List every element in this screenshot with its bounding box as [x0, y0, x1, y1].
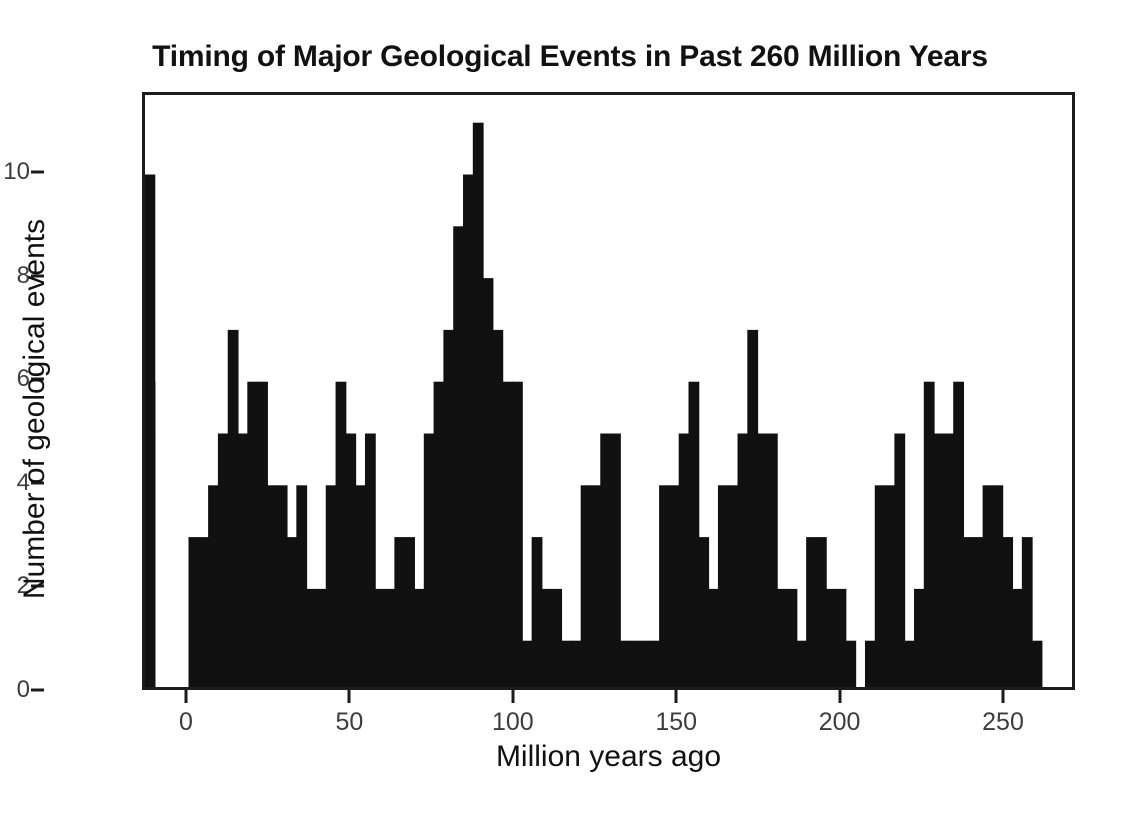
- histogram-bar: [630, 641, 640, 687]
- histogram-bar: [1003, 538, 1013, 687]
- histogram-bar: [258, 382, 268, 687]
- x-tick-mark: [1002, 690, 1005, 703]
- histogram-bar: [620, 641, 630, 687]
- histogram-bar: [277, 486, 287, 687]
- histogram-bar: [611, 434, 621, 687]
- histogram-bar: [365, 434, 375, 687]
- histogram-bar: [385, 589, 395, 687]
- histogram-bar: [748, 330, 758, 687]
- histogram-bar: [767, 434, 777, 687]
- histogram-bar: [395, 538, 405, 687]
- histogram-bar: [709, 589, 719, 687]
- y-axis-title: Number of geological events: [18, 159, 52, 659]
- histogram-bar: [954, 382, 964, 687]
- histogram-bar: [836, 589, 846, 687]
- histogram-bar: [145, 434, 155, 687]
- histogram-bar: [375, 589, 385, 687]
- histogram-bar: [738, 434, 748, 687]
- histogram-bar: [826, 589, 836, 687]
- histogram-bar: [1013, 589, 1023, 687]
- histogram-bar: [964, 538, 974, 687]
- y-tick-mark: [31, 689, 44, 692]
- histogram-bars: [145, 95, 1072, 687]
- plot-inner: [145, 95, 1072, 687]
- histogram-bar: [934, 434, 944, 687]
- chart-figure: Timing of Major Geological Events in Pas…: [0, 0, 1140, 818]
- histogram-bar: [679, 434, 689, 687]
- histogram-bar: [346, 434, 356, 687]
- histogram-bar: [993, 486, 1003, 687]
- x-axis-title: Million years ago: [142, 740, 1075, 774]
- chart-title: Timing of Major Geological Events in Pas…: [0, 40, 1140, 74]
- histogram-bar: [581, 486, 591, 687]
- histogram-bar: [1032, 641, 1042, 687]
- histogram-bar: [248, 382, 258, 687]
- histogram-bar: [797, 641, 807, 687]
- x-tick-label: 150: [655, 708, 697, 737]
- histogram-bar: [944, 434, 954, 687]
- histogram-bar: [895, 434, 905, 687]
- histogram-bar: [571, 641, 581, 687]
- histogram-bar: [326, 486, 336, 687]
- histogram-bar: [728, 486, 738, 687]
- histogram-bar: [758, 434, 768, 687]
- histogram-bar: [777, 589, 787, 687]
- histogram-bar: [307, 589, 317, 687]
- histogram-bar: [503, 382, 513, 687]
- histogram-bar: [336, 382, 346, 687]
- histogram-bar: [905, 641, 915, 687]
- histogram-bar: [522, 641, 532, 687]
- histogram-bar: [640, 641, 650, 687]
- histogram-bar: [807, 538, 817, 687]
- x-tick-label: 250: [982, 708, 1024, 737]
- x-tick-mark: [511, 690, 514, 703]
- histogram-bar: [199, 538, 209, 687]
- histogram-bar: [267, 486, 277, 687]
- histogram-bar: [1022, 538, 1032, 687]
- histogram-bar: [973, 538, 983, 687]
- histogram-bar: [699, 538, 709, 687]
- x-tick-label: 100: [492, 708, 534, 737]
- histogram-bar: [356, 486, 366, 687]
- histogram-bar: [483, 279, 493, 687]
- x-tick-label: 200: [819, 708, 861, 737]
- histogram-bar: [473, 123, 483, 687]
- histogram-bar: [228, 330, 238, 687]
- histogram-bar: [454, 227, 464, 687]
- histogram-bar: [493, 330, 503, 687]
- histogram-bar: [846, 641, 856, 687]
- histogram-bar: [885, 486, 895, 687]
- histogram-bar: [209, 486, 219, 687]
- x-tick-mark: [675, 690, 678, 703]
- histogram-bar: [405, 538, 415, 687]
- histogram-bar: [189, 538, 199, 687]
- histogram-bar: [444, 330, 454, 687]
- histogram-bar: [542, 589, 552, 687]
- histogram-bar: [434, 382, 444, 687]
- histogram-bar: [414, 589, 424, 687]
- x-tick-mark: [838, 690, 841, 703]
- histogram-bar: [532, 538, 542, 687]
- histogram-bar: [513, 382, 523, 687]
- histogram-bar: [591, 486, 601, 687]
- histogram-bar: [316, 589, 326, 687]
- histogram-bar: [983, 486, 993, 687]
- histogram-bar: [552, 589, 562, 687]
- histogram-bar: [718, 486, 728, 687]
- y-tick-label: 0: [17, 676, 30, 704]
- histogram-bar: [816, 538, 826, 687]
- histogram-bar: [238, 434, 248, 687]
- histogram-bar: [601, 434, 611, 687]
- plot-area: [142, 92, 1075, 690]
- histogram-bar: [915, 589, 925, 687]
- histogram-bar: [689, 382, 699, 687]
- x-tick-mark: [185, 690, 188, 703]
- histogram-bar: [865, 641, 875, 687]
- histogram-bar: [218, 434, 228, 687]
- histogram-bar: [669, 486, 679, 687]
- histogram-bar: [287, 538, 297, 687]
- histogram-bar: [660, 486, 670, 687]
- histogram-bar: [464, 175, 474, 687]
- histogram-bar: [875, 486, 885, 687]
- histogram-bar: [562, 641, 572, 687]
- x-tick-label: 0: [179, 708, 193, 737]
- histogram-bar: [924, 382, 934, 687]
- histogram-bar: [424, 434, 434, 687]
- x-tick-mark: [348, 690, 351, 703]
- histogram-bar: [297, 486, 307, 687]
- histogram-bar: [650, 641, 660, 687]
- histogram-bar: [787, 589, 797, 687]
- x-tick-label: 50: [335, 708, 363, 737]
